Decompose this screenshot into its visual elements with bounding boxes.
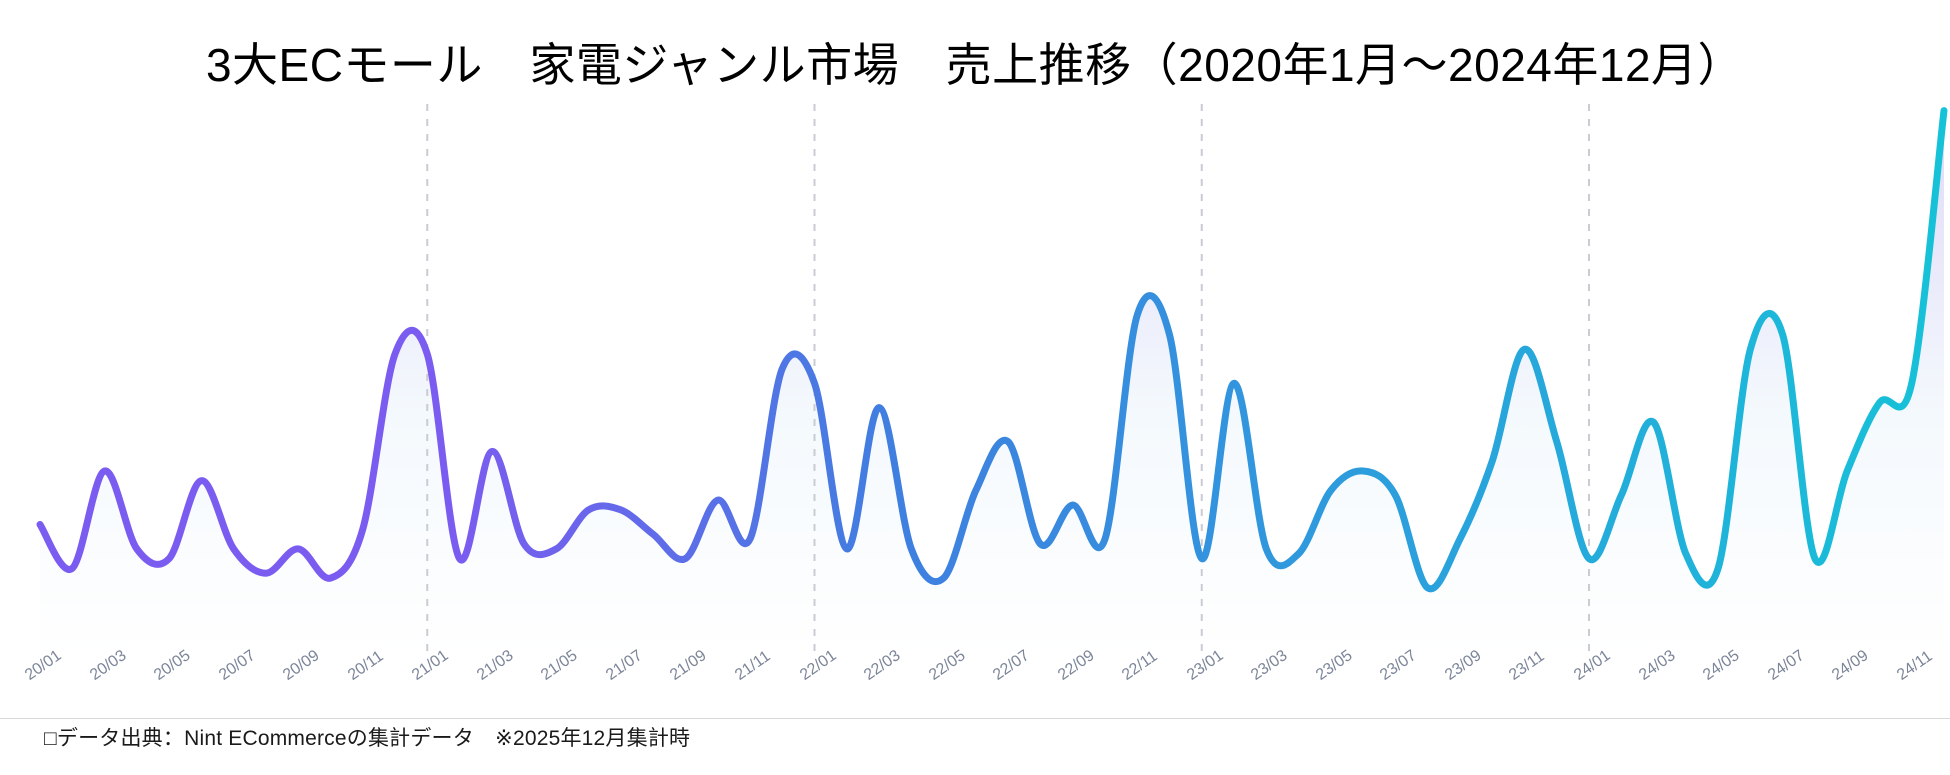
plot-area: 20/0120/0320/0520/0720/0920/1121/0121/03… bbox=[0, 0, 1950, 775]
chart-root: 3大ECモール 家電ジャンル市場 売上推移（2020年1月〜2024年12月） bbox=[0, 0, 1950, 775]
data-source-note: □データ出典：Nint ECommerceの集計データ ※2025年12月集計時 bbox=[44, 722, 690, 752]
footer-divider bbox=[0, 718, 1950, 719]
